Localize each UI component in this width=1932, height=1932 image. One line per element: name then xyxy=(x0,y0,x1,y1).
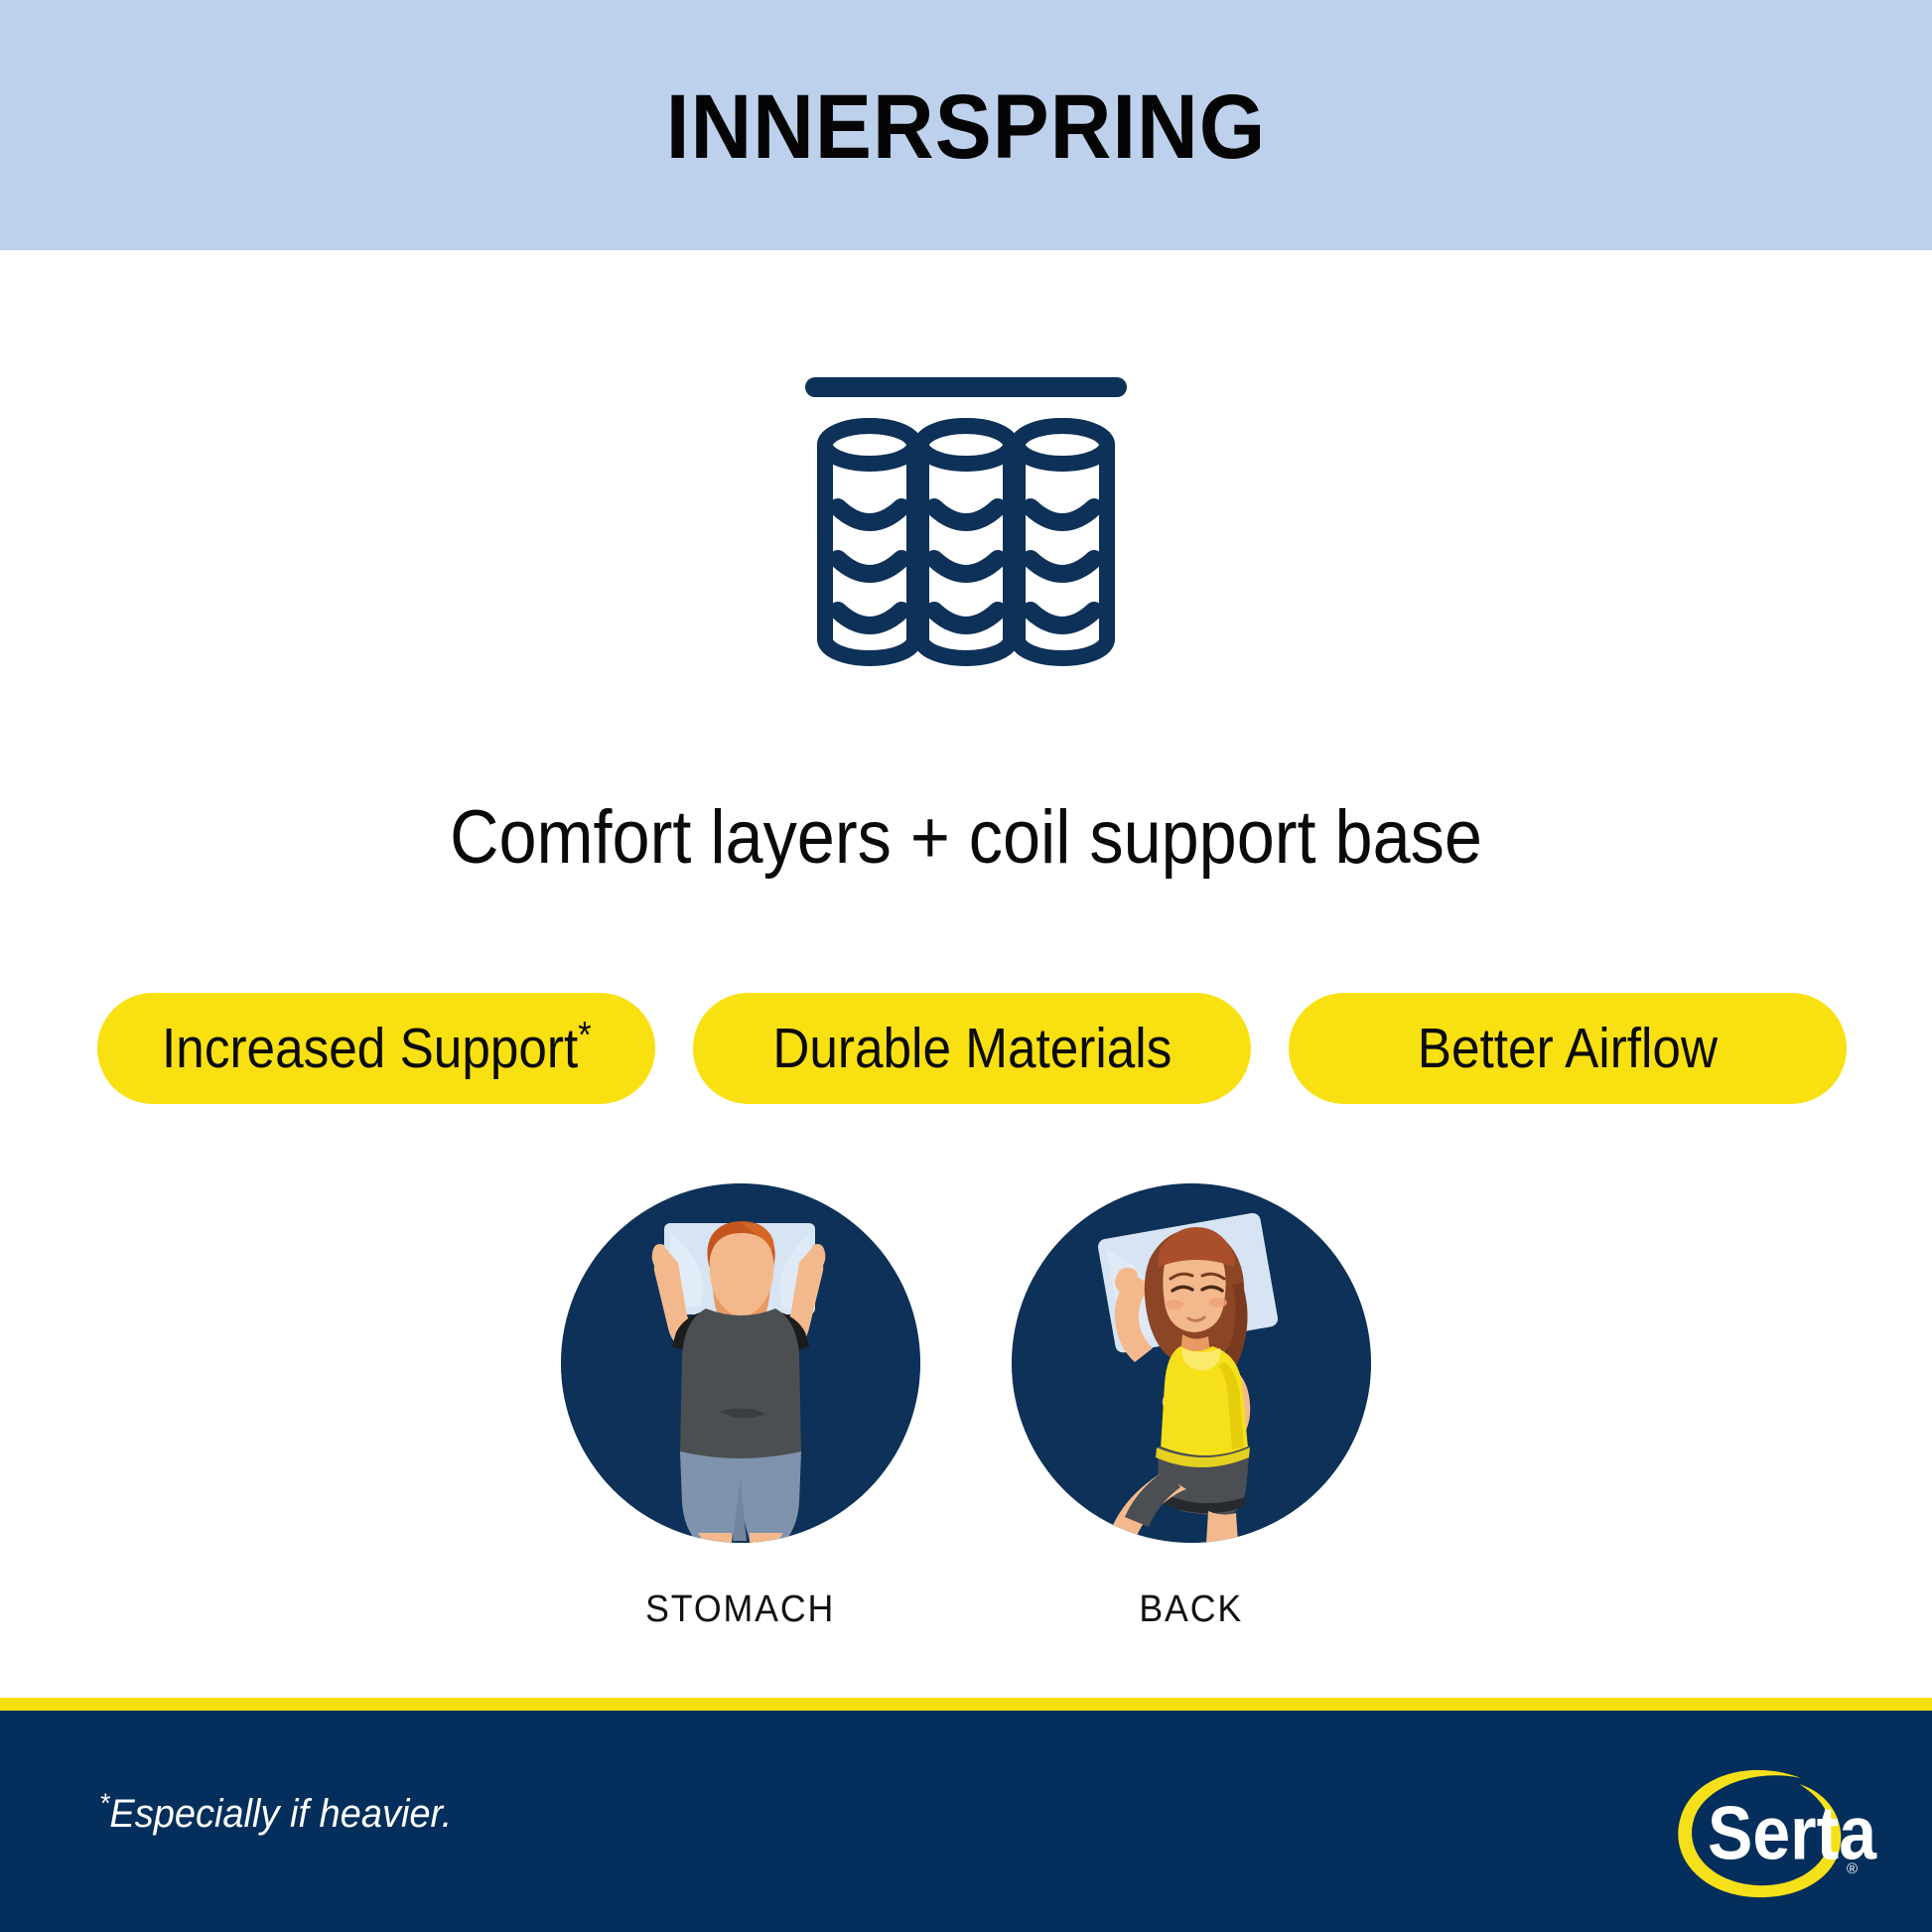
feature-pill-increased-support[interactable]: Increased Support* xyxy=(97,993,655,1104)
footnote-marker: * xyxy=(99,1788,109,1819)
sleep-position-stomach[interactable] xyxy=(561,1183,920,1549)
subtitle: Comfort layers + coil support base xyxy=(96,794,1835,881)
footnote-marker: * xyxy=(578,1015,591,1056)
innerspring-coils-icon xyxy=(797,369,1135,697)
page-title: INNERSPRING xyxy=(666,81,1266,173)
feature-pill-label: Better Airflow xyxy=(1418,1021,1718,1077)
stomach-sleeper-illustration xyxy=(561,1183,920,1543)
footer-accent-stripe xyxy=(0,1698,1932,1711)
sleep-label-box-back: BACK xyxy=(1012,1588,1371,1648)
feature-pill-label: Durable Materials xyxy=(772,1021,1172,1077)
coil-top-bar xyxy=(805,377,1127,397)
serta-logo-mark: Serta ® xyxy=(1660,1762,1883,1911)
sleep-position-label-back: BACK xyxy=(1140,1588,1244,1631)
back-sleeper-illustration xyxy=(1012,1183,1371,1543)
page-header: INNERSPRING xyxy=(0,0,1932,250)
stomach-sleeper-circle xyxy=(561,1183,920,1543)
coil-3 xyxy=(1018,426,1107,658)
serta-logo[interactable]: Serta ® xyxy=(1660,1762,1883,1911)
coil-2 xyxy=(921,426,1011,658)
infographic-page: INNERSPRING xyxy=(0,0,1932,1932)
sleep-position-label-stomach: STOMACH xyxy=(645,1588,835,1631)
coil-icon-container xyxy=(0,369,1932,717)
coil-1 xyxy=(825,426,914,658)
sleep-position-back[interactable] xyxy=(1012,1183,1371,1549)
footnote-text: *Especially if heavier. xyxy=(99,1792,452,1837)
feature-pill-better-airflow[interactable]: Better Airflow xyxy=(1289,993,1847,1104)
feature-pill-label: Increased Support* xyxy=(162,1021,592,1077)
sleep-position-list xyxy=(0,1183,1932,1549)
feature-pill-list: Increased Support* Durable Materials Bet… xyxy=(97,993,1847,1104)
sleep-position-labels: STOMACH BACK xyxy=(0,1588,1932,1648)
sleep-label-box-stomach: STOMACH xyxy=(561,1588,920,1648)
feature-pill-durable-materials[interactable]: Durable Materials xyxy=(693,993,1251,1104)
back-sleeper-circle xyxy=(1012,1183,1371,1543)
serta-registered-mark: ® xyxy=(1847,1861,1858,1877)
